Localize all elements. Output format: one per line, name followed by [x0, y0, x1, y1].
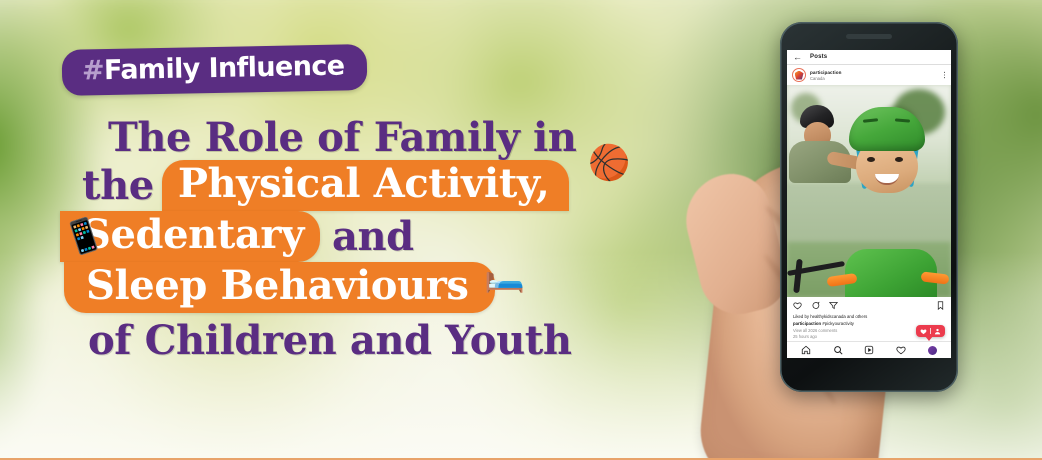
- app-screen-title: Posts: [810, 54, 827, 60]
- basketball-icon: 🏀: [588, 146, 630, 180]
- heart-icon: [920, 328, 927, 335]
- app-top-bar: ← Posts: [787, 50, 951, 65]
- post-header: participaction Canada ⋯: [787, 65, 951, 85]
- comment-icon[interactable]: [811, 301, 820, 310]
- post-account-block[interactable]: participaction Canada: [810, 70, 937, 81]
- headline-text-sedentary: Sedentary: [82, 211, 304, 258]
- reels-icon[interactable]: [864, 345, 874, 355]
- share-icon[interactable]: [829, 301, 838, 310]
- caption-hashtag: #pickyouractivity: [822, 321, 854, 326]
- profile-avatar[interactable]: [928, 346, 937, 355]
- badge-divider: [930, 328, 931, 334]
- home-icon[interactable]: [801, 345, 811, 355]
- hashtag-badge: #Family Influence: [62, 44, 367, 96]
- phone-screen: ← Posts participaction Canada ⋯: [787, 50, 951, 358]
- like-icon[interactable]: [793, 301, 802, 310]
- headline-line-4: Sleep Behaviours: [64, 262, 700, 313]
- post-account-name: participaction: [810, 70, 937, 75]
- smartphone-device: ← Posts participaction Canada ⋯: [780, 22, 958, 392]
- headline-text-the-role-of-family-in: The Role of Family in: [108, 118, 576, 158]
- headline-line-5: of Children and Youth: [88, 321, 700, 361]
- notification-badge: [916, 325, 945, 337]
- child-eye: [895, 157, 903, 162]
- post-likes-text: Liked by healthykidscanada and others: [793, 314, 945, 319]
- headline-copy-block: #Family Influence The Role of Family in …: [0, 0, 700, 460]
- person-icon: [934, 328, 941, 335]
- headline-text-physical-activity: Physical Activity,: [178, 160, 550, 207]
- avatar[interactable]: [792, 68, 806, 82]
- hashtag-badge-text: #Family Influence: [82, 52, 345, 87]
- back-arrow-icon[interactable]: ←: [793, 53, 802, 62]
- highlight-chip-sleep-behaviours: Sleep Behaviours: [64, 262, 495, 313]
- more-options-icon[interactable]: ⋯: [941, 71, 946, 80]
- brand-logo-icon: [795, 71, 804, 80]
- headline-line-3: Sedentary and: [60, 211, 700, 262]
- phone-earpiece: [846, 34, 892, 39]
- bookmark-icon[interactable]: [936, 301, 945, 310]
- family-influence-banner: #Family Influence The Role of Family in …: [0, 0, 1042, 460]
- search-icon[interactable]: [833, 345, 843, 355]
- hashtag-label: Family Influence: [104, 51, 345, 87]
- child-eye: [867, 157, 875, 162]
- highlight-chip-physical-activity: Physical Activity,: [162, 160, 570, 211]
- caption-account-name: participaction: [793, 321, 821, 326]
- app-bottom-nav: [787, 341, 951, 358]
- headline-text-sleep-behaviours: Sleep Behaviours: [86, 262, 469, 309]
- headline-text-of-children-and-youth: of Children and Youth: [88, 321, 572, 361]
- heart-icon[interactable]: [896, 345, 906, 355]
- hash-symbol: #: [82, 55, 105, 86]
- post-photo[interactable]: [787, 85, 951, 297]
- post-action-bar: [787, 297, 951, 313]
- hand-holding-phone: ← Posts participaction Canada ⋯: [682, 0, 1042, 460]
- bed-icon: 🛏️: [484, 258, 525, 291]
- post-account-location: Canada: [810, 76, 937, 81]
- headline-text-and: and: [332, 217, 414, 257]
- headline-text-the: the: [82, 166, 154, 206]
